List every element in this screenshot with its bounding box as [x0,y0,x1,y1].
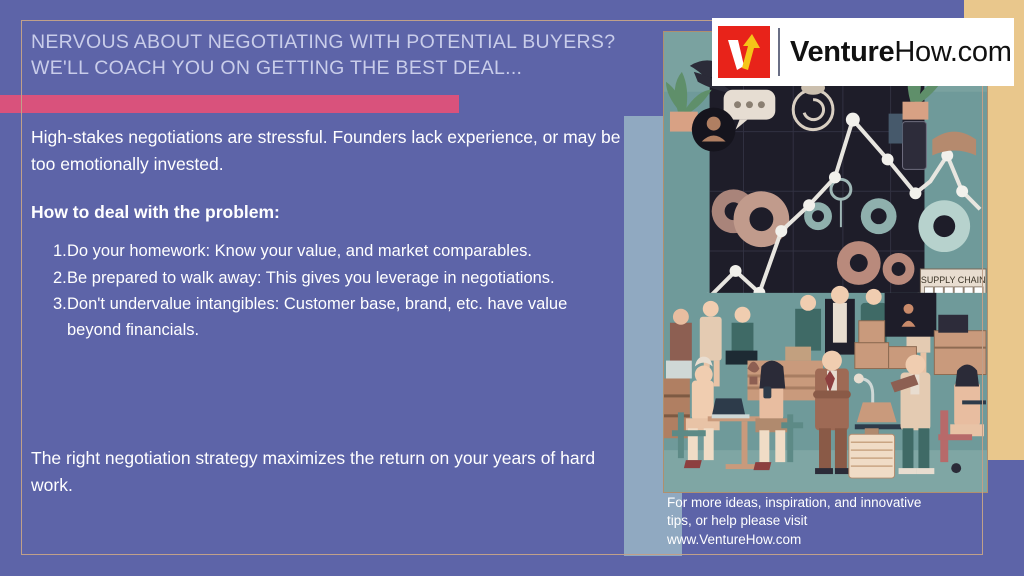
slide-heading-line-1: NERVOUS ABOUT NEGOTIATING WITH POTENTIAL… [31,30,651,56]
list-item-number: 3. [31,292,67,343]
lead-paragraph: High-stakes negotiations are stressful. … [31,124,621,177]
list-item-number: 2. [31,266,67,292]
logo-divider [778,28,780,76]
howto-heading: How to deal with the problem: [31,202,621,223]
list-item-text: Don't undervalue intangibles: Customer b… [67,292,621,343]
slide-canvas: NERVOUS ABOUT NEGOTIATING WITH POTENTIAL… [0,0,1024,576]
list-item: 1. Do your homework: Know your value, an… [31,239,621,265]
footer-line-2: tips, or help please visit [667,512,997,530]
slide-heading: NERVOUS ABOUT NEGOTIATING WITH POTENTIAL… [31,30,651,82]
body-content: High-stakes negotiations are stressful. … [31,124,621,344]
accent-bar [0,95,459,113]
illustration-artwork: SUPPLY CHAIN [664,32,987,492]
list-item-text: Be prepared to walk away: This gives you… [67,266,621,292]
steps-list: 1. Do your homework: Know your value, an… [31,239,621,343]
slide-heading-line-2: WE'LL COACH YOU ON GETTING THE BEST DEAL… [31,56,651,82]
logo-wordmark: VentureHow.com [790,36,1012,69]
closing-paragraph: The right negotiation strategy maximizes… [31,445,621,498]
list-item-number: 1. [31,239,67,265]
list-item: 3. Don't undervalue intangibles: Custome… [31,292,621,343]
supply-chain-label: SUPPLY CHAIN [921,275,986,285]
logo-wordmark-bold: Venture [790,36,894,68]
list-item-text: Do your homework: Know your value, and m… [67,239,621,265]
list-item: 2. Be prepared to walk away: This gives … [31,266,621,292]
venture-checkmark-arrow-icon [718,26,770,78]
brand-logo[interactable]: VentureHow.com [712,18,1014,86]
footer-note: For more ideas, inspiration, and innovat… [667,494,997,549]
footer-line-1: For more ideas, inspiration, and innovat… [667,494,997,512]
logo-wordmark-light: How.com [894,36,1011,68]
illustration-image: SUPPLY CHAIN [663,31,988,493]
footer-line-3: www.VentureHow.com [667,531,997,549]
